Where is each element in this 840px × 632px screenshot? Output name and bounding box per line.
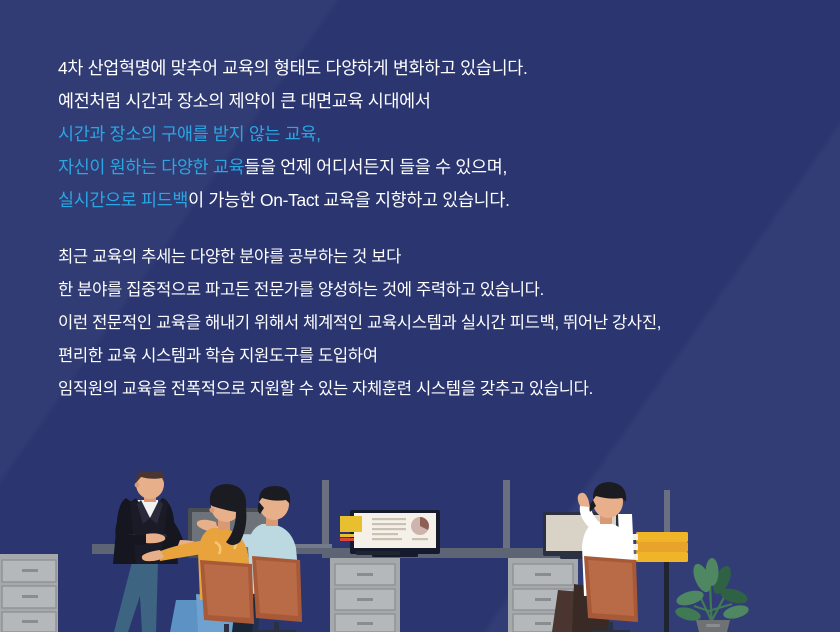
paragraph1-line5: 실시간으로 피드백이 가능한 On-Tact 교육을 지향하고 있습니다. xyxy=(58,184,798,217)
paragraph2-line3: 이런 전문적인 교육을 해내기 위해서 체계적인 교육시스템과 실시간 피드백,… xyxy=(58,306,798,339)
paragraph1-line4-highlight: 자신이 원하는 다양한 교육 xyxy=(58,157,244,177)
paragraph1-line3-highlight: 시간과 장소의 구애를 받지 않는 교육, xyxy=(58,124,321,144)
paragraph1-line5-rest: 이 가능한 On-Tact 교육을 지향하고 있습니다. xyxy=(188,190,509,210)
book-stack xyxy=(630,532,688,562)
office-workspace-illustration xyxy=(0,472,840,632)
paragraph1-line1: 4차 산업혁명에 맞추어 교육의 형태도 다양하게 변화하고 있습니다. xyxy=(58,52,798,85)
filing-cabinet xyxy=(330,558,400,632)
paragraph1-line2: 예전처럼 시간과 장소의 제약이 큰 대면교육 시대에서 xyxy=(58,85,798,118)
paragraph-2: 최근 교육의 추세는 다양한 분야를 공부하는 것 보다 한 분야를 집중적으로… xyxy=(58,240,798,405)
paragraph-1: 4차 산업혁명에 맞추어 교육의 형태도 다양하게 변화하고 있습니다. 예전처… xyxy=(58,52,798,217)
paragraph1-line5-highlight: 실시간으로 피드백 xyxy=(58,190,188,210)
paragraph1-line4: 자신이 원하는 다양한 교육들을 언제 어디서든지 들을 수 있으며, xyxy=(58,151,798,184)
keyboard xyxy=(356,551,400,555)
filing-cabinet xyxy=(0,554,58,632)
partial-figure-sliver xyxy=(618,514,634,558)
paragraph2-line1: 최근 교육의 추세는 다양한 분야를 공부하는 것 보다 xyxy=(58,240,798,273)
potted-plant xyxy=(674,558,750,632)
paragraph1-line4-rest: 들을 언제 어디서든지 들을 수 있으며, xyxy=(244,157,507,177)
banner-copy: 4차 산업혁명에 맞추어 교육의 형태도 다양하게 변화하고 있습니다. 예전처… xyxy=(58,52,798,405)
paragraph2-line4: 편리한 교육 시스템과 학습 지원도구를 도입하여 xyxy=(58,339,798,372)
paragraph2-line5: 임직원의 교육을 전폭적으로 지원할 수 있는 자체훈련 시스템을 갖추고 있습… xyxy=(58,372,798,405)
promo-banner: 4차 산업혁명에 맞추어 교육의 형태도 다양하게 변화하고 있습니다. 예전처… xyxy=(0,0,840,632)
paragraph1-line3: 시간과 장소의 구애를 받지 않는 교육, xyxy=(58,118,798,151)
paragraph2-line2: 한 분야를 집중적으로 파고든 전문가를 양성하는 것에 주력하고 있습니다. xyxy=(58,273,798,306)
monitor-center-document xyxy=(340,510,440,557)
